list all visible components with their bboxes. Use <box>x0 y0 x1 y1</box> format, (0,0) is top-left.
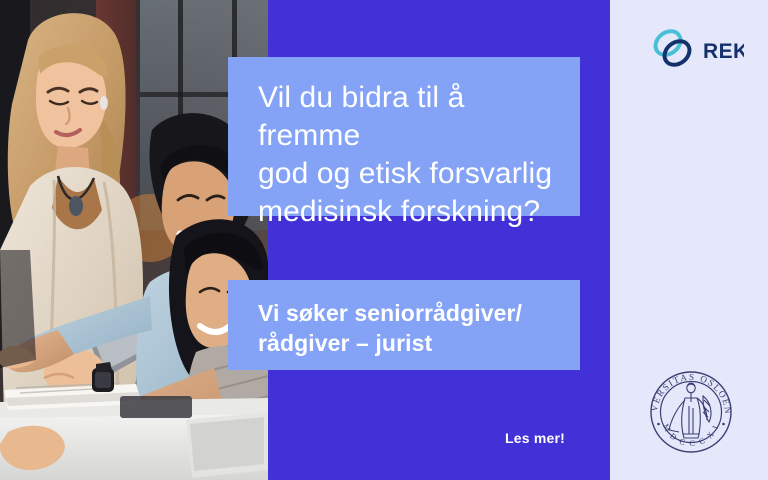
headline-line-1: Vil du bidra til å fremme <box>258 81 464 152</box>
headline-text: Vil du bidra til å fremmegod og etisk fo… <box>258 79 554 231</box>
rek-logo[interactable]: REK <box>648 26 744 72</box>
subhead-box: Vi søker seniorrådgiver/rådgiver – juris… <box>228 280 580 370</box>
seal-figure <box>669 383 711 438</box>
uio-seal: UNIVERSITAS OSLOENSIS M D C C C X I <box>641 362 741 462</box>
rek-wordmark: REK <box>703 40 744 63</box>
headline-line-2: god og etisk forsvarlig <box>258 157 552 190</box>
headline-box: Vil du bidra til å fremmegod og etisk fo… <box>228 57 580 216</box>
rek-rings-icon <box>651 26 694 69</box>
subhead-line-2: rådgiver – jurist <box>258 330 432 356</box>
subhead-line-1: Vi søker seniorrådgiver/ <box>258 300 522 326</box>
job-advert-banner: Vil du bidra til å fremmegod og etisk fo… <box>0 0 768 480</box>
read-more-cta[interactable]: Les mer! <box>505 430 565 446</box>
subhead-text: Vi søker seniorrådgiver/rådgiver – juris… <box>258 298 554 358</box>
headline-line-3: medisinsk forskning? <box>258 195 540 228</box>
